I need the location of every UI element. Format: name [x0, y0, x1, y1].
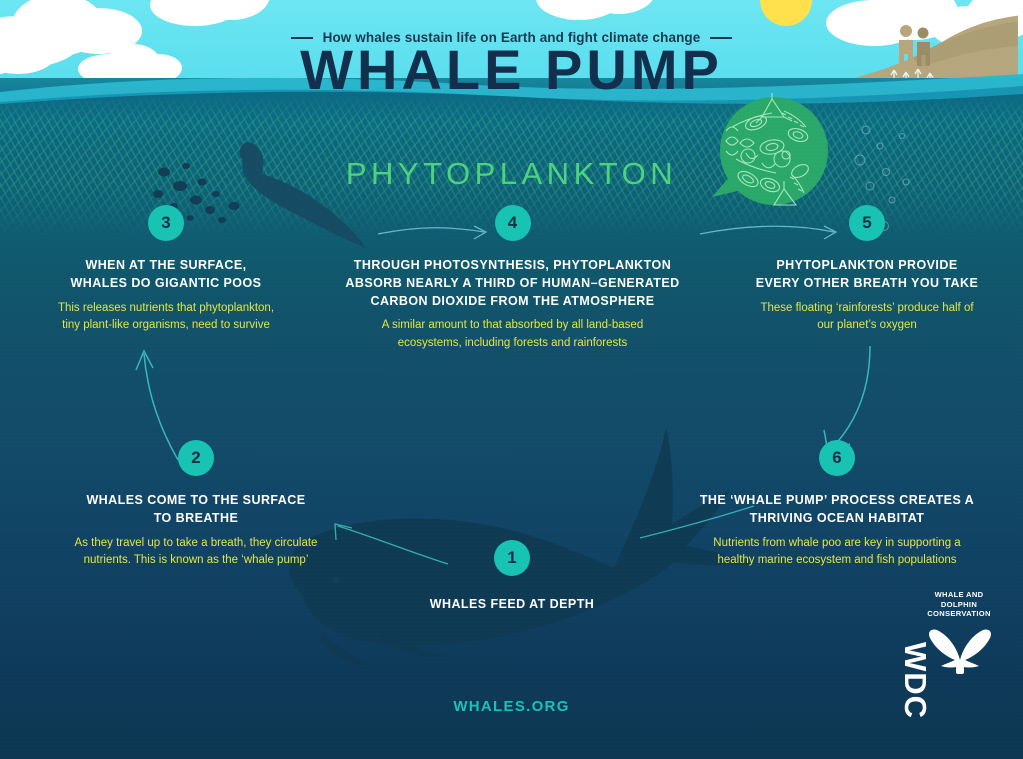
- step-6-title-line1: THE ‘WHALE PUMP’ PROCESS CREATES A: [692, 492, 982, 510]
- step-2-subtitle-line2: nutrients. This is known as the ‘whale p…: [56, 552, 336, 569]
- wdc-logo-line1: WHALE AND: [905, 590, 1013, 600]
- wdc-logo[interactable]: WHALE AND DOLPHIN CONSERVATION WDC: [905, 590, 1013, 720]
- step-4-subtitle: A similar amount to that absorbed by all…: [330, 317, 695, 352]
- step-6-subtitle: Nutrients from whale poo are key in supp…: [692, 535, 982, 570]
- step-5-title-line2: EVERY OTHER BREATH YOU TAKE: [722, 275, 1012, 293]
- step-6-subtitle-line1: Nutrients from whale poo are key in supp…: [692, 535, 982, 552]
- step-1-badge: 1: [494, 540, 530, 576]
- step-6-badge: 6: [819, 440, 855, 476]
- step-3-subtitle: This releases nutrients that phytoplankt…: [16, 300, 316, 335]
- step-5-subtitle-line1: These floating ‘rainforests’ produce hal…: [722, 300, 1012, 317]
- step-2-subtitle: As they travel up to take a breath, they…: [56, 535, 336, 570]
- wdc-logo-wordmark: WHALE AND DOLPHIN CONSERVATION: [905, 590, 1013, 619]
- step-3-title-line2: WHALES DO GIGANTIC POOS: [16, 275, 316, 293]
- step-6: 6 THE ‘WHALE PUMP’ PROCESS CREATES A THR…: [692, 440, 982, 569]
- whale-tail-icon: [927, 626, 993, 714]
- step-4-title-line2: ABSORB NEARLY A THIRD OF HUMAN–GENERATED: [330, 275, 695, 293]
- step-3-title: WHEN AT THE SURFACE, WHALES DO GIGANTIC …: [16, 257, 316, 293]
- step-5-subtitle-line2: our planet’s oxygen: [722, 317, 1012, 334]
- step-5-title-line1: PHYTOPLANKTON PROVIDE: [722, 257, 1012, 275]
- wdc-logo-line3: CONSERVATION: [905, 609, 1013, 619]
- step-3-subtitle-line2: tiny plant-like organisms, need to survi…: [16, 317, 316, 334]
- step-2-title: WHALES COME TO THE SURFACE TO BREATHE: [56, 492, 336, 528]
- step-2-subtitle-line1: As they travel up to take a breath, they…: [56, 535, 336, 552]
- wdc-logo-line2: DOLPHIN: [905, 600, 1013, 610]
- step-2-badge: 2: [178, 440, 214, 476]
- step-5: 5 PHYTOPLANKTON PROVIDE EVERY OTHER BREA…: [722, 205, 1012, 334]
- step-4-subtitle-line1: A similar amount to that absorbed by all…: [330, 317, 695, 334]
- step-6-title-line2: THRIVING OCEAN HABITAT: [692, 510, 982, 528]
- step-3-badge: 3: [148, 205, 184, 241]
- phytoplankton-label: PHYTOPLANKTON: [0, 156, 1023, 192]
- step-3-title-line1: WHEN AT THE SURFACE,: [16, 257, 316, 275]
- step-3: 3 WHEN AT THE SURFACE, WHALES DO GIGANTI…: [16, 205, 316, 334]
- step-1-title: WHALES FEED AT DEPTH: [392, 596, 632, 614]
- step-4-badge: 4: [495, 205, 531, 241]
- step-5-badge: 5: [849, 205, 885, 241]
- step-3-subtitle-line1: This releases nutrients that phytoplankt…: [16, 300, 316, 317]
- page-title: WHALE PUMP: [0, 42, 1023, 98]
- step-4-title-line1: THROUGH PHOTOSYNTHESIS, PHYTOPLANKTON: [330, 257, 695, 275]
- step-1: 1 WHALES FEED AT DEPTH: [392, 540, 632, 614]
- step-5-subtitle: These floating ‘rainforests’ produce hal…: [722, 300, 1012, 335]
- step-6-subtitle-line2: healthy marine ecosystem and fish popula…: [692, 552, 982, 569]
- step-2-title-line1: WHALES COME TO THE SURFACE: [56, 492, 336, 510]
- step-2-title-line2: TO BREATHE: [56, 510, 336, 528]
- infographic-canvas: How whales sustain life on Earth and fig…: [0, 0, 1023, 759]
- step-4-title-line3: CARBON DIOXIDE FROM THE ATMOSPHERE: [330, 293, 695, 311]
- step-5-title: PHYTOPLANKTON PROVIDE EVERY OTHER BREATH…: [722, 257, 1012, 293]
- step-4-subtitle-line2: ecosystems, including forests and rainfo…: [330, 335, 695, 352]
- wdc-acronym: WDC: [861, 642, 933, 714]
- step-4-title: THROUGH PHOTOSYNTHESIS, PHYTOPLANKTON AB…: [330, 257, 695, 310]
- step-2: 2 WHALES COME TO THE SURFACE TO BREATHE …: [56, 440, 336, 569]
- step-4: 4 THROUGH PHOTOSYNTHESIS, PHYTOPLANKTON …: [330, 205, 695, 352]
- step-6-title: THE ‘WHALE PUMP’ PROCESS CREATES A THRIV…: [692, 492, 982, 528]
